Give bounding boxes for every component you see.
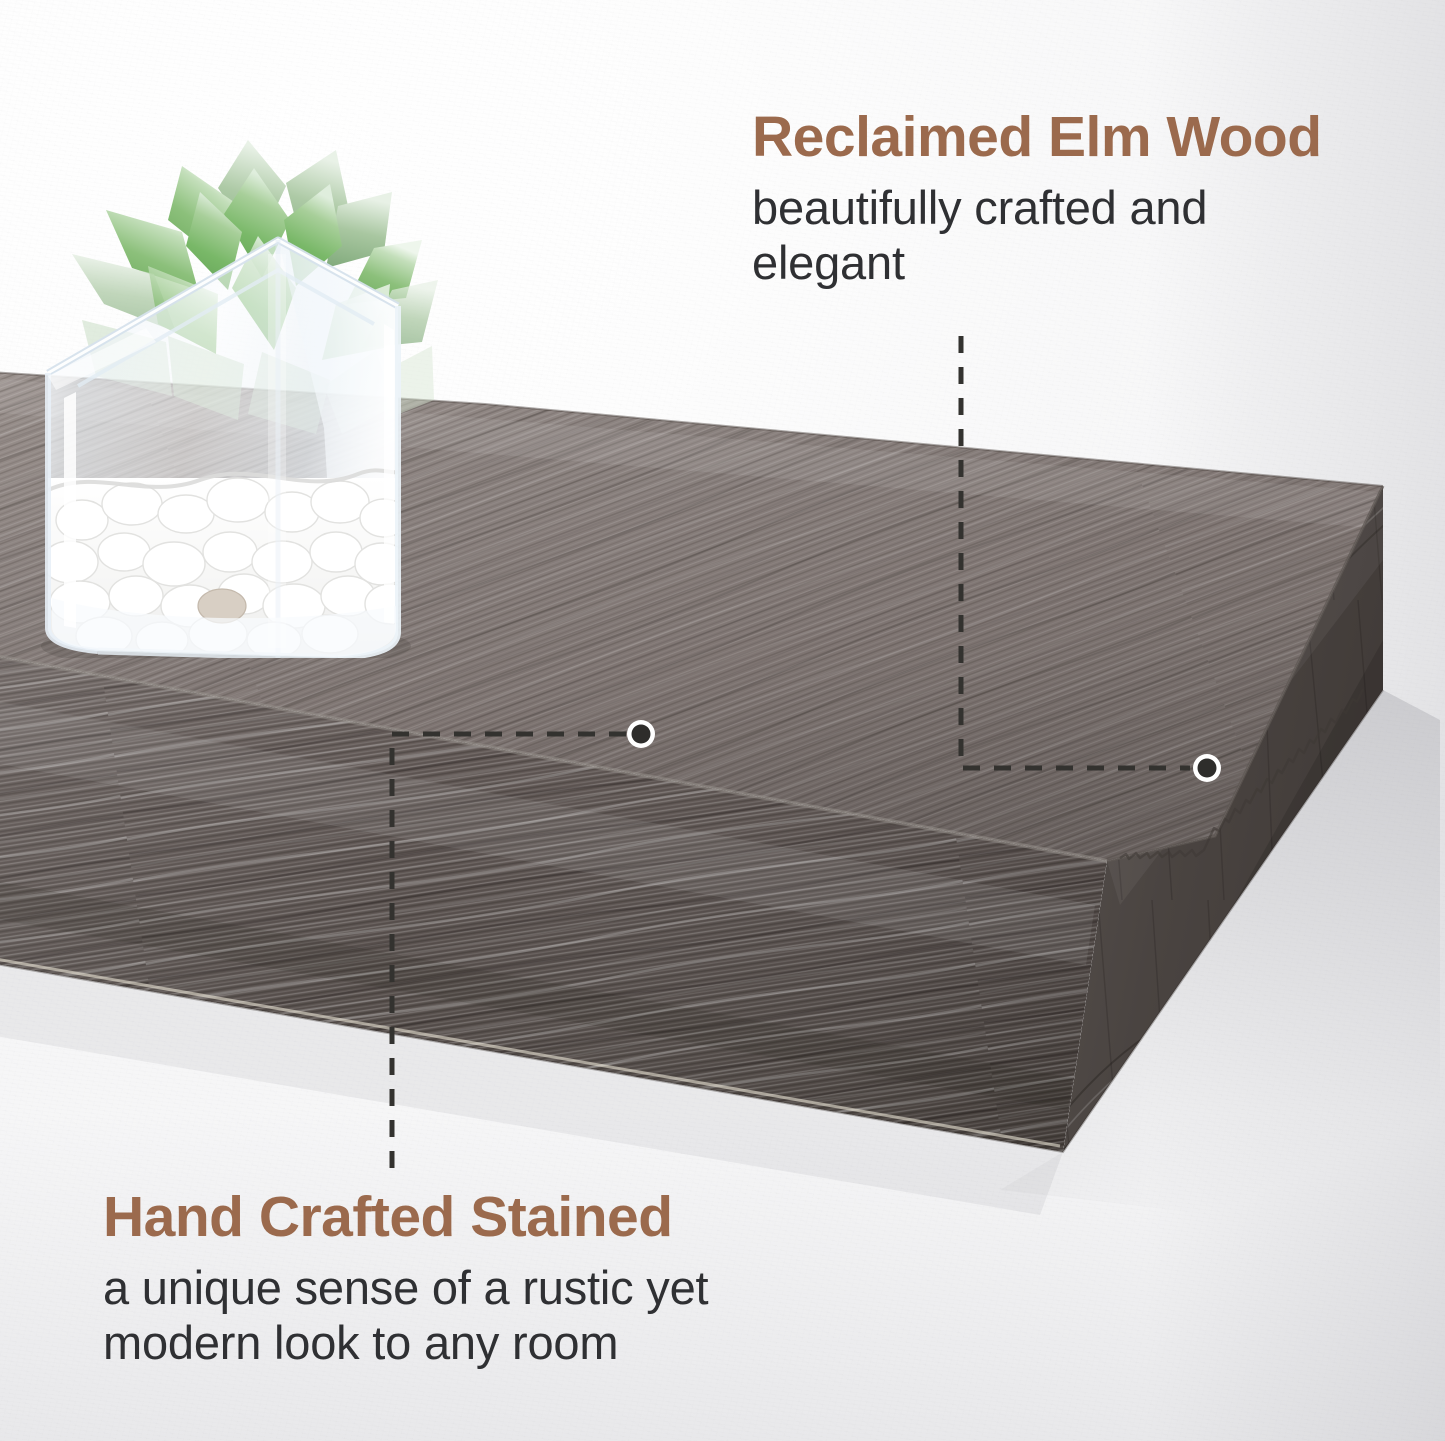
callout-heading-reclaimed-elm-wood: Reclaimed Elm Wood	[752, 108, 1442, 167]
glass-cube-vase	[42, 240, 415, 658]
callout-body-reclaimed-elm-wood: beautifully crafted and elegant	[752, 181, 1332, 291]
callout-reclaimed-elm-wood: Reclaimed Elm Wood beautifully crafted a…	[752, 108, 1442, 291]
product-feature-image: Reclaimed Elm Wood beautifully crafted a…	[0, 0, 1445, 1441]
callout-hand-crafted-stained: Hand Crafted Stained a unique sense of a…	[103, 1188, 863, 1371]
callout-body-hand-crafted-stained: a unique sense of a rustic yet modern lo…	[103, 1261, 833, 1371]
glass-cube-planter-with-succulent	[0, 128, 486, 658]
callout-heading-hand-crafted-stained: Hand Crafted Stained	[103, 1188, 863, 1247]
